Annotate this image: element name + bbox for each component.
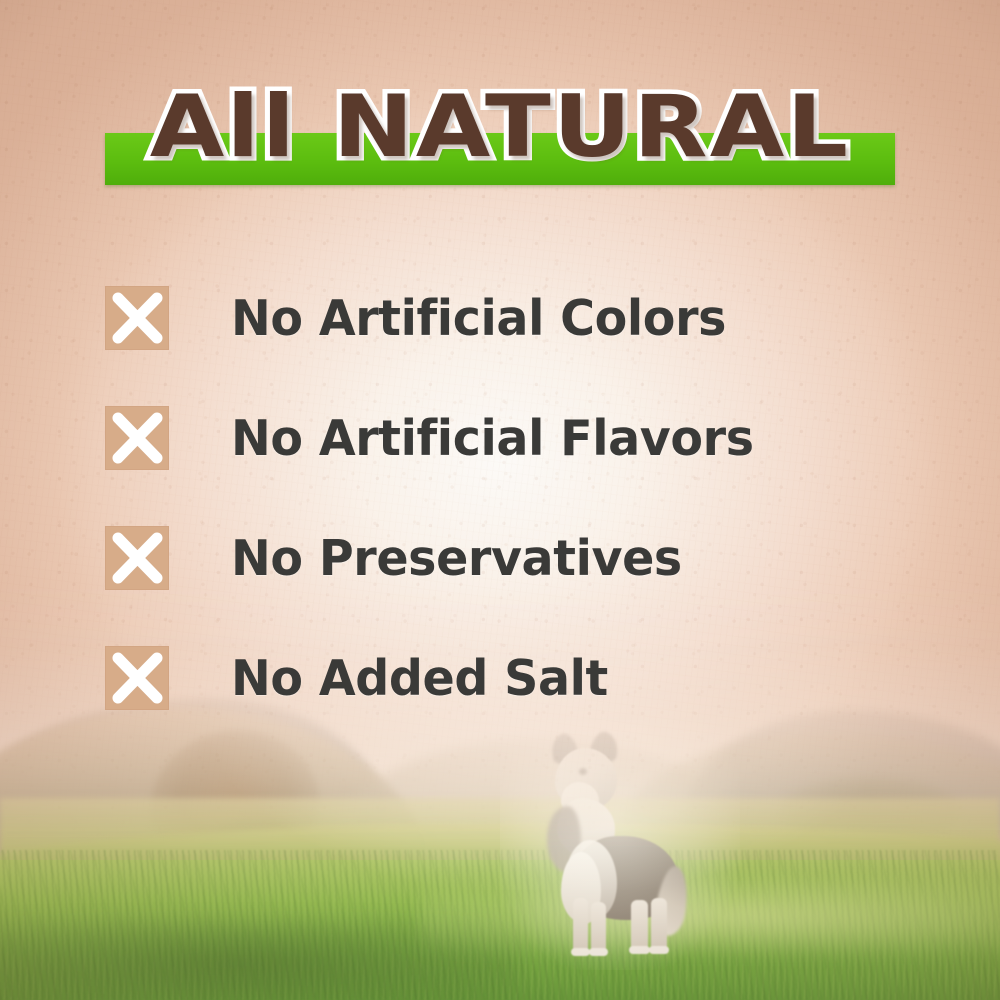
claim-row: No Artificial Colors <box>105 258 965 378</box>
claim-row: No Added Salt <box>105 618 965 738</box>
claim-label: No Artificial Colors <box>231 290 726 347</box>
headline-text: All NATURAL <box>0 74 1000 180</box>
headline-block: All NATURAL <box>0 74 1000 194</box>
product-feature-poster: All NATURAL No Artificial Colors No Arti… <box>0 0 1000 1000</box>
x-mark-icon <box>105 286 169 350</box>
claim-label: No Artificial Flavors <box>231 410 754 467</box>
x-mark-icon <box>105 526 169 590</box>
claim-label: No Added Salt <box>231 650 608 707</box>
x-mark-icon <box>105 406 169 470</box>
claims-list: No Artificial Colors No Artificial Flavo… <box>105 258 965 738</box>
claim-row: No Preservatives <box>105 498 965 618</box>
claim-row: No Artificial Flavors <box>105 378 965 498</box>
x-mark-icon <box>105 646 169 710</box>
claim-label: No Preservatives <box>231 530 682 587</box>
